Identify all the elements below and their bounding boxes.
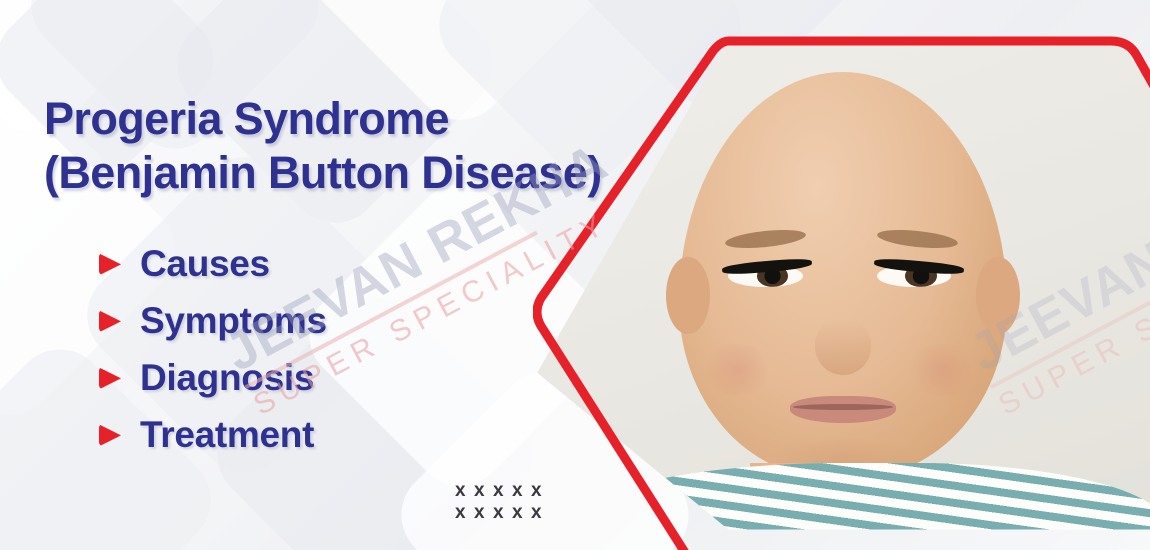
play-triangle-icon xyxy=(99,310,121,332)
play-triangle-icon xyxy=(99,253,121,275)
list-item[interactable]: Causes xyxy=(99,236,604,293)
x-mark-icon: x xyxy=(531,502,550,524)
x-mark-icon: x xyxy=(512,480,531,502)
topic-list: Causes Symptoms Diagnosis Treatment xyxy=(99,236,604,464)
list-item-label: Diagnosis xyxy=(140,357,314,399)
list-item[interactable]: Symptoms xyxy=(99,293,604,350)
list-item[interactable]: Treatment xyxy=(99,407,604,464)
x-mark-icon: x xyxy=(455,480,474,502)
list-item[interactable]: Diagnosis xyxy=(99,350,604,407)
list-item-label: Treatment xyxy=(140,414,314,456)
x-mark-icon: x xyxy=(474,480,493,502)
page-title: Progeria Syndrome (Benjamin Button Disea… xyxy=(44,92,604,201)
title-line-2: (Benjamin Button Disease) xyxy=(44,146,604,200)
banner-copy: Progeria Syndrome (Benjamin Button Disea… xyxy=(44,92,604,464)
list-item-label: Causes xyxy=(140,243,270,285)
x-mark-icon: x xyxy=(512,502,531,524)
x-mark-icon: x xyxy=(493,480,512,502)
title-line-1: Progeria Syndrome xyxy=(44,92,604,146)
hexagon-photo-frame xyxy=(533,36,1150,550)
x-mark-decoration: x x x x x x x x x x xyxy=(455,480,550,524)
x-mark-icon: x xyxy=(474,502,493,524)
health-info-banner: JEEVAN REKHA SUPER SPECIALITY xyxy=(0,0,1150,550)
x-mark-icon: x xyxy=(493,502,512,524)
list-item-label: Symptoms xyxy=(140,300,327,342)
play-triangle-icon xyxy=(99,367,121,389)
x-mark-icon: x xyxy=(455,502,474,524)
hexagon-red-outline xyxy=(533,36,1150,550)
play-triangle-icon xyxy=(99,424,121,446)
x-mark-icon: x xyxy=(531,480,550,502)
